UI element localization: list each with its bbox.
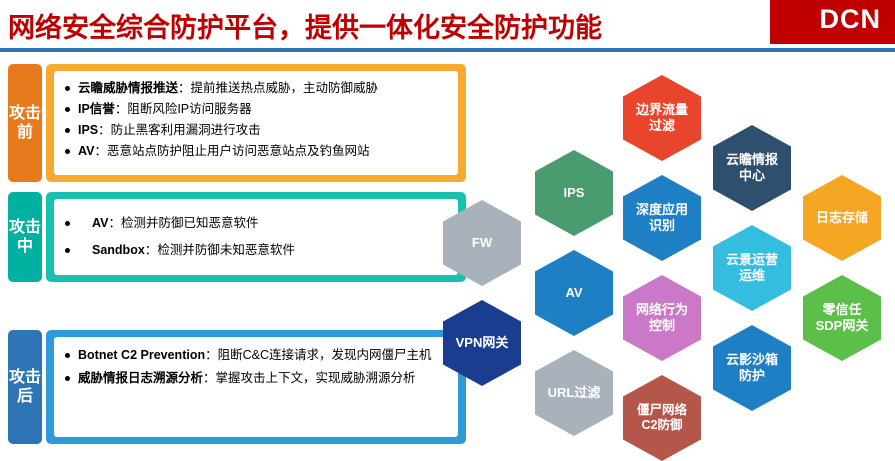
hex-cell-yunying-sandbox[interactable]: 云影沙箱防护 (713, 325, 791, 411)
list-item-desc: 掌握攻击上下文，实现威胁溯源分析 (216, 371, 416, 385)
list-item-term: 威胁情报日志溯源分析 (78, 371, 203, 385)
hex-label: 边界流量过滤 (631, 102, 693, 134)
list-item-desc: 检测并防御未知恶意软件 (157, 243, 295, 257)
list-item-term: AV (78, 144, 94, 158)
hex-cell-av[interactable]: AV (535, 250, 613, 336)
phase-tab-label: 攻击中 (8, 218, 42, 256)
hex-label: 云景运营运维 (721, 252, 783, 284)
hex-label: 云瞻情报中心 (721, 152, 783, 184)
hex-label: URL过滤 (548, 385, 601, 401)
brand-logo-text: DCN (820, 4, 882, 35)
list-item-sep: ： (145, 243, 158, 257)
list-item-sep: ： (203, 371, 216, 385)
list-item-desc: 防止黑客利用漏洞进行攻击 (111, 123, 261, 137)
phase-panel-before-attack: 云瞻威胁情报推送：提前推送热点威胁，主动防御威胁 IP信誉：阻断风险IP访问服务… (46, 64, 466, 182)
hex-label: 网络行为控制 (631, 302, 693, 334)
hex-cell-yunjing-ops[interactable]: 云景运营运维 (713, 225, 791, 311)
list-item-sep: ： (115, 102, 128, 116)
hex-label: FW (472, 235, 492, 251)
hex-cell-vpn-gateway[interactable]: VPN网关 (443, 300, 521, 386)
page-header: 网络安全综合防护平台，提供一体化安全防护功能 DCN (0, 0, 895, 52)
list-item-term: 云瞻威胁情报推送 (78, 81, 178, 95)
list-item: 威胁情报日志溯源分析：掌握攻击上下文，实现威胁溯源分析 (62, 369, 448, 388)
list-item-term: IP信誉 (78, 102, 115, 116)
hex-cell-log-storage[interactable]: 日志存储 (803, 175, 881, 261)
list-item: AV：检测并防御已知恶意软件 (62, 214, 448, 233)
phase-tab-label: 攻击后 (8, 368, 42, 406)
hex-label: 云影沙箱防护 (721, 352, 783, 384)
list-item-term: AV (92, 216, 108, 230)
list-item: IPS：防止黑客利用漏洞进行攻击 (62, 121, 448, 140)
list-item-sep: ： (205, 348, 218, 362)
hex-cell-yunzhan-intel-center[interactable]: 云瞻情报中心 (713, 125, 791, 211)
hex-label: IPS (564, 185, 585, 201)
phase-panel-after-attack: Botnet C2 Prevention：阻断C&C连接请求，发现内网僵尸主机 … (46, 330, 466, 444)
list-item-sep: ： (98, 123, 111, 137)
list-item: IP信誉：阻断风险IP访问服务器 (62, 100, 448, 119)
list-item: Sandbox：检测并防御未知恶意软件 (62, 241, 448, 260)
phase-item-list: Botnet C2 Prevention：阻断C&C连接请求，发现内网僵尸主机 … (54, 337, 458, 388)
hex-cell-ips[interactable]: IPS (535, 150, 613, 236)
capability-hex-grid: 边界流量过滤 云瞻情报中心 IPS 深度应用识别 日志存储 FW 云景运营运维 … (455, 55, 895, 450)
list-item: Botnet C2 Prevention：阻断C&C连接请求，发现内网僵尸主机 (62, 346, 448, 365)
hex-label: 日志存储 (816, 210, 868, 226)
phase-panel-content: AV：检测并防御已知恶意软件 Sandbox：检测并防御未知恶意软件 (54, 199, 458, 275)
phase-tab-after-attack: 攻击后 (8, 330, 42, 444)
hex-label: 深度应用识别 (631, 202, 693, 234)
list-item-term: Sandbox (92, 243, 145, 257)
phase-panel-content: Botnet C2 Prevention：阻断C&C连接请求，发现内网僵尸主机 … (54, 337, 458, 437)
phase-tab-during-attack: 攻击中 (8, 192, 42, 282)
hex-cell-border-traffic-filter[interactable]: 边界流量过滤 (623, 75, 701, 161)
list-item-sep: ： (178, 81, 191, 95)
header-divider (0, 48, 895, 52)
list-item-desc: 检测并防御已知恶意软件 (121, 216, 259, 230)
list-item-sep: ： (108, 216, 121, 230)
hex-cell-deep-app-identification[interactable]: 深度应用识别 (623, 175, 701, 261)
phase-tab-before-attack: 攻击前 (8, 64, 42, 182)
hex-label: AV (565, 285, 582, 301)
page-title: 网络安全综合防护平台，提供一体化安全防护功能 (8, 6, 602, 45)
hex-label: VPN网关 (456, 335, 509, 351)
phase-item-list: 云瞻威胁情报推送：提前推送热点威胁，主动防御威胁 IP信誉：阻断风险IP访问服务… (54, 71, 458, 161)
hex-label: 零信任SDP网关 (811, 302, 873, 334)
hex-cell-botnet-c2-defense[interactable]: 僵尸网络C2防御 (623, 375, 701, 461)
phase-panel-content: 云瞻威胁情报推送：提前推送热点威胁，主动防御威胁 IP信誉：阻断风险IP访问服务… (54, 71, 458, 175)
phase-item-list: AV：检测并防御已知恶意软件 Sandbox：检测并防御未知恶意软件 (54, 199, 458, 260)
hex-label: 僵尸网络C2防御 (631, 403, 693, 433)
list-item-desc: 阻断C&C连接请求，发现内网僵尸主机 (218, 348, 432, 362)
list-item-sep: ： (94, 144, 107, 158)
hex-cell-url-filter[interactable]: URL过滤 (535, 350, 613, 436)
list-item-term: Botnet C2 Prevention (78, 348, 205, 362)
hex-cell-zero-trust-sdp-gateway[interactable]: 零信任SDP网关 (803, 275, 881, 361)
list-item-term: IPS (78, 123, 98, 137)
list-item-desc: 恶意站点防护阻止用户访问恶意站点及钓鱼网站 (107, 144, 370, 158)
brand-logo: DCN (770, 0, 895, 44)
phase-tab-label: 攻击前 (8, 104, 42, 142)
list-item-desc: 阻断风险IP访问服务器 (127, 102, 251, 116)
hex-cell-network-behavior-control[interactable]: 网络行为控制 (623, 275, 701, 361)
list-item-desc: 提前推送热点威胁，主动防御威胁 (191, 81, 379, 95)
list-item: AV：恶意站点防护阻止用户访问恶意站点及钓鱼网站 (62, 142, 448, 161)
phase-panel-during-attack: AV：检测并防御已知恶意软件 Sandbox：检测并防御未知恶意软件 (46, 192, 466, 282)
hex-cell-fw[interactable]: FW (443, 200, 521, 286)
list-item: 云瞻威胁情报推送：提前推送热点威胁，主动防御威胁 (62, 79, 448, 98)
